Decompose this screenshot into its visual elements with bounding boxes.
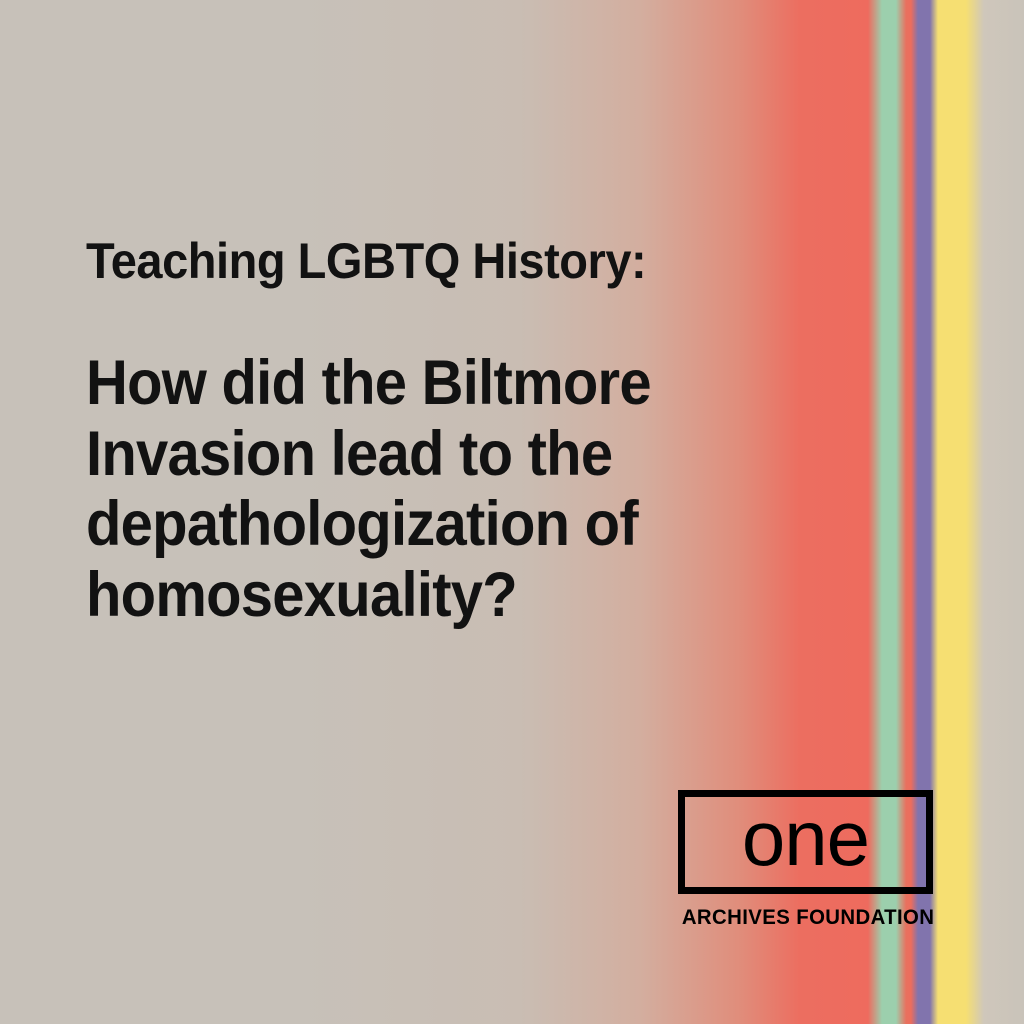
headline-line-1: How did the Biltmore: [86, 348, 794, 419]
one-archives-foundation-logo: one ARCHIVES FOUNDATION: [678, 790, 933, 928]
logo-box-outline: one: [678, 790, 933, 894]
headline-line-3: depathologization of: [86, 489, 794, 560]
logo-wordmark-one: one: [742, 799, 869, 877]
poster-canvas: Teaching LGBTQ History: How did the Bilt…: [0, 0, 1024, 1024]
headline-line-4: homosexuality?: [86, 560, 794, 631]
logo-subtitle-archives-foundation: ARCHIVES FOUNDATION: [682, 907, 929, 928]
headline-line-2: Invasion lead to the: [86, 419, 794, 490]
headline: How did the Biltmore Invasion lead to th…: [86, 348, 794, 630]
text-block: Teaching LGBTQ History: How did the Bilt…: [86, 236, 856, 630]
eyebrow-series-title: Teaching LGBTQ History:: [86, 236, 810, 286]
